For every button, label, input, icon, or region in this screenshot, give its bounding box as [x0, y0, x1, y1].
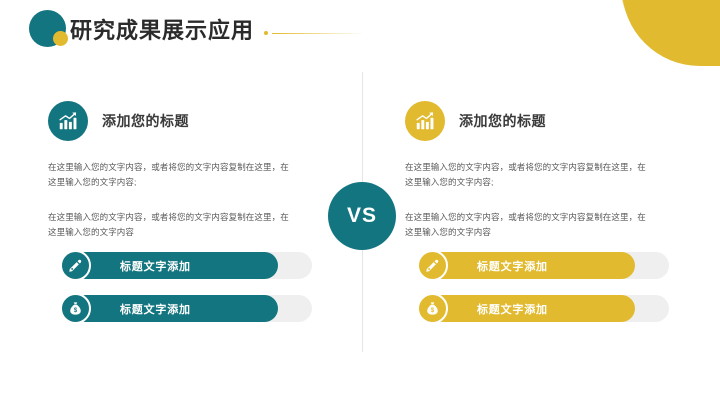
- list-item[interactable]: 标题文字添加: [60, 252, 312, 279]
- pen-nib-icon: [60, 250, 91, 281]
- pill-bar[interactable]: 标题文字添加: [429, 252, 635, 279]
- page-title: 研究成果展示应用: [70, 20, 254, 42]
- pill-bar[interactable]: 标题文字添加: [72, 295, 278, 322]
- pill-label: 标题文字添加: [120, 258, 191, 274]
- column-left-header: 添加您的标题: [48, 100, 308, 142]
- list-item[interactable]: 标题文字添加 $: [417, 295, 669, 322]
- pill-spacer: [60, 279, 312, 295]
- pill-label: 标题文字添加: [120, 301, 191, 317]
- column-left-paragraph-2: 在这里输入您的文字内容，或者将您的文字内容复制在这里，在这里输入您的文字内容: [48, 210, 294, 240]
- logo-dot-icon: [53, 31, 68, 46]
- pill-bar[interactable]: 标题文字添加: [72, 252, 278, 279]
- vs-badge: VS: [328, 182, 396, 250]
- header-logo-mark: [12, 6, 74, 56]
- pen-nib-icon: [417, 250, 448, 281]
- bar-chart-growth-icon: [405, 101, 445, 141]
- money-bag-icon: $: [417, 293, 448, 324]
- title-accent-dot-icon: [264, 31, 268, 35]
- list-item[interactable]: 标题文字添加: [417, 252, 669, 279]
- column-right-pill-list: 标题文字添加 标题文字添加 $: [417, 252, 669, 322]
- column-right-paragraph-2: 在这里输入您的文字内容，或者将您的文字内容复制在这里，在这里输入您的文字内容: [405, 210, 651, 240]
- column-right-header: 添加您的标题: [405, 100, 665, 142]
- pill-label: 标题文字添加: [477, 301, 548, 317]
- column-right: 添加您的标题 在这里输入您的文字内容，或者将您的文字内容复制在这里，在这里输入您…: [405, 100, 665, 240]
- slide-content: 添加您的标题 在这里输入您的文字内容，或者将您的文字内容复制在这里，在这里输入您…: [0, 62, 720, 405]
- pill-bar[interactable]: 标题文字添加: [429, 295, 635, 322]
- list-item[interactable]: 标题文字添加 $: [60, 295, 312, 322]
- column-right-paragraph-1: 在这里输入您的文字内容，或者将您的文字内容复制在这里，在这里输入您的文字内容;: [405, 160, 651, 190]
- vs-label: VS: [347, 204, 377, 228]
- column-left-paragraph-1: 在这里输入您的文字内容，或者将您的文字内容复制在这里，在这里输入您的文字内容;: [48, 160, 294, 190]
- slide-header: 研究成果展示应用: [0, 0, 720, 62]
- column-right-heading: 添加您的标题: [459, 111, 546, 131]
- pill-spacer: [417, 279, 669, 295]
- column-left-pill-list: 标题文字添加 标题文字添加 $: [60, 252, 312, 322]
- title-accent-line-icon: [272, 33, 364, 34]
- money-bag-icon: $: [60, 293, 91, 324]
- title-accent-rule: [264, 31, 364, 35]
- bar-chart-growth-icon: [48, 101, 88, 141]
- column-left-heading: 添加您的标题: [102, 111, 189, 131]
- pill-label: 标题文字添加: [477, 258, 548, 274]
- column-left: 添加您的标题 在这里输入您的文字内容，或者将您的文字内容复制在这里，在这里输入您…: [48, 100, 308, 240]
